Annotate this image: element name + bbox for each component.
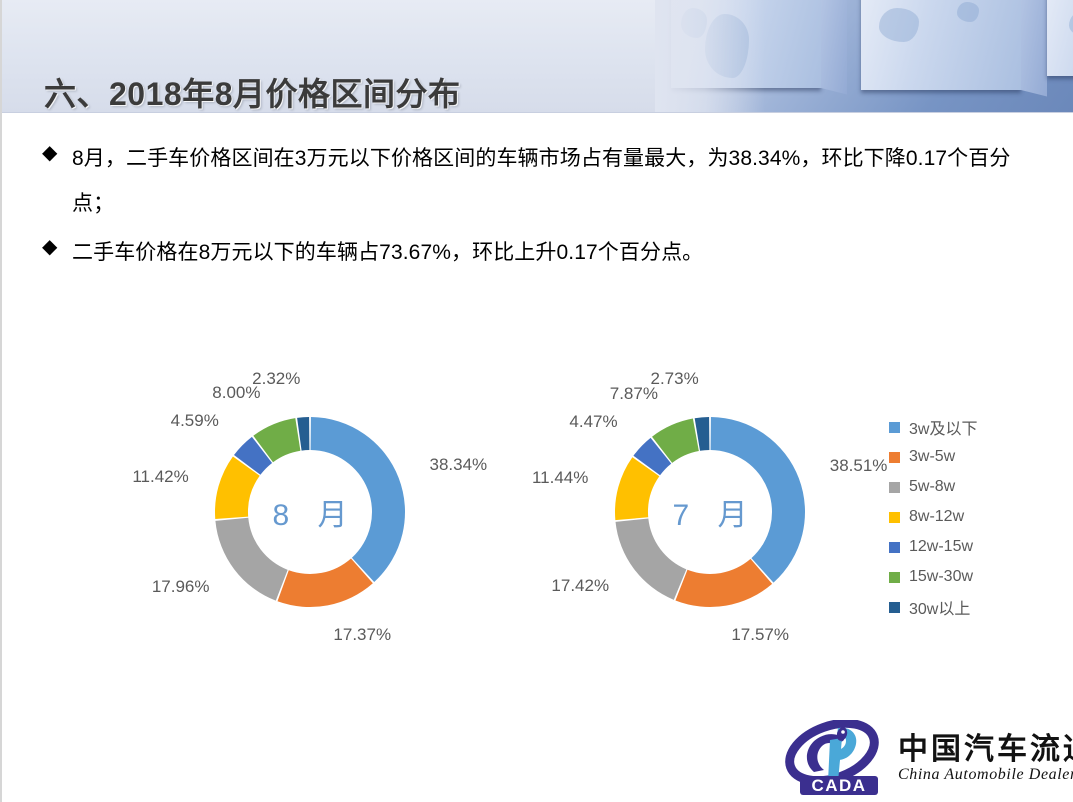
donut-slice[interactable]	[675, 559, 772, 607]
legend-color-swatch	[889, 572, 900, 583]
bullet-text: 8月，二手车价格区间在3万元以下价格区间的车辆市场占有量最大，为38.34%，环…	[72, 136, 1042, 226]
legend-color-swatch	[889, 512, 900, 523]
legend-color-swatch	[889, 422, 900, 433]
donut-slices-august	[215, 417, 405, 607]
organization-name-cn: 中国汽车流通协会	[898, 724, 1073, 768]
cube-side-face	[821, 0, 847, 94]
page-title: 六、2018年8月价格区间分布	[44, 69, 461, 115]
chart-legend: 3w及以下3w-5w5w-8w8w-12w12w-15w15w-30w30w以上	[889, 412, 1069, 622]
decorative-cube	[861, 0, 1021, 90]
legend-item[interactable]: 3w及以下	[889, 412, 1069, 442]
cada-logo-icon: CADA	[780, 720, 892, 796]
bullet-text: 二手车价格在8万元以下的车辆占73.67%，环比上升0.17个百分点。	[72, 230, 1042, 275]
donut-slice[interactable]	[616, 518, 687, 599]
donut-slice[interactable]	[311, 417, 405, 582]
cube-map-blob	[681, 8, 707, 38]
donut-value-label: 2.73%	[650, 369, 698, 389]
donut-value-label: 17.57%	[731, 625, 789, 645]
legend-color-swatch	[889, 482, 900, 493]
legend-item-label: 3w及以下	[909, 415, 977, 439]
legend-color-swatch	[889, 542, 900, 553]
legend-item[interactable]: 3w-5w	[889, 442, 1069, 472]
donut-value-label: 17.37%	[333, 625, 391, 645]
decorative-cube	[671, 0, 821, 88]
donut-value-label: 4.47%	[569, 412, 617, 432]
legend-item[interactable]: 12w-15w	[889, 532, 1069, 562]
donut-value-label: 2.32%	[252, 369, 300, 389]
legend-item[interactable]: 5w-8w	[889, 472, 1069, 502]
cube-map-blob	[1069, 10, 1073, 38]
donut-value-label: 11.44%	[532, 468, 588, 488]
legend-item-label: 12w-15w	[909, 538, 973, 556]
donut-chart-august: 8 月	[210, 412, 410, 612]
legend-item-label: 15w-30w	[909, 568, 973, 586]
header-decorative-cubes-image	[655, 0, 1073, 113]
donut-slices-july	[615, 417, 805, 607]
donut-value-label: 17.96%	[152, 577, 210, 597]
decorative-cube	[1047, 0, 1073, 76]
donut-value-label: 11.42%	[132, 467, 188, 487]
slide-canvas: 六、2018年8月价格区间分布 ◆ 8月，二手车价格区间在3万元以下价格区间的车…	[0, 0, 1073, 802]
donut-slice[interactable]	[711, 417, 805, 583]
legend-item-label: 5w-8w	[909, 478, 955, 496]
legend-item[interactable]: 15w-30w	[889, 562, 1069, 592]
legend-item-label: 8w-12w	[909, 508, 964, 526]
donut-value-label: 17.42%	[551, 576, 609, 596]
cube-side-face	[1021, 0, 1047, 96]
legend-item-label: 30w以上	[909, 595, 970, 619]
legend-item[interactable]: 8w-12w	[889, 502, 1069, 532]
legend-item-label: 3w-5w	[909, 448, 955, 466]
donut-slice[interactable]	[277, 558, 372, 607]
legend-item[interactable]: 30w以上	[889, 592, 1069, 622]
donut-chart-july: 7 月	[610, 412, 810, 612]
cada-logo-text: CADA	[811, 776, 866, 795]
donut-slice[interactable]	[215, 518, 287, 601]
diamond-bullet-icon: ◆	[42, 136, 72, 170]
donut-value-label: 38.34%	[430, 455, 488, 475]
organization-name-en: China Automobile Dealers Association	[898, 766, 1073, 784]
donut-value-label: 38.51%	[830, 456, 888, 476]
cube-map-blob	[705, 14, 749, 78]
donut-chart-august-svg	[210, 412, 410, 612]
organization-logo: CADA 中国汽车流通协会 China Automobile Dealers A…	[780, 718, 1070, 796]
bullet-list: ◆ 8月，二手车价格区间在3万元以下价格区间的车辆市场占有量最大，为38.34%…	[42, 136, 1042, 279]
list-item: ◆ 8月，二手车价格区间在3万元以下价格区间的车辆市场占有量最大，为38.34%…	[42, 136, 1042, 226]
legend-color-swatch	[889, 452, 900, 463]
diamond-bullet-icon: ◆	[42, 230, 72, 264]
list-item: ◆ 二手车价格在8万元以下的车辆占73.67%，环比上升0.17个百分点。	[42, 230, 1042, 275]
cube-map-blob	[879, 8, 919, 42]
donut-value-label: 4.59%	[171, 411, 219, 431]
donut-chart-july-svg	[610, 412, 810, 612]
legend-color-swatch	[889, 602, 900, 613]
cube-map-blob	[957, 2, 979, 22]
